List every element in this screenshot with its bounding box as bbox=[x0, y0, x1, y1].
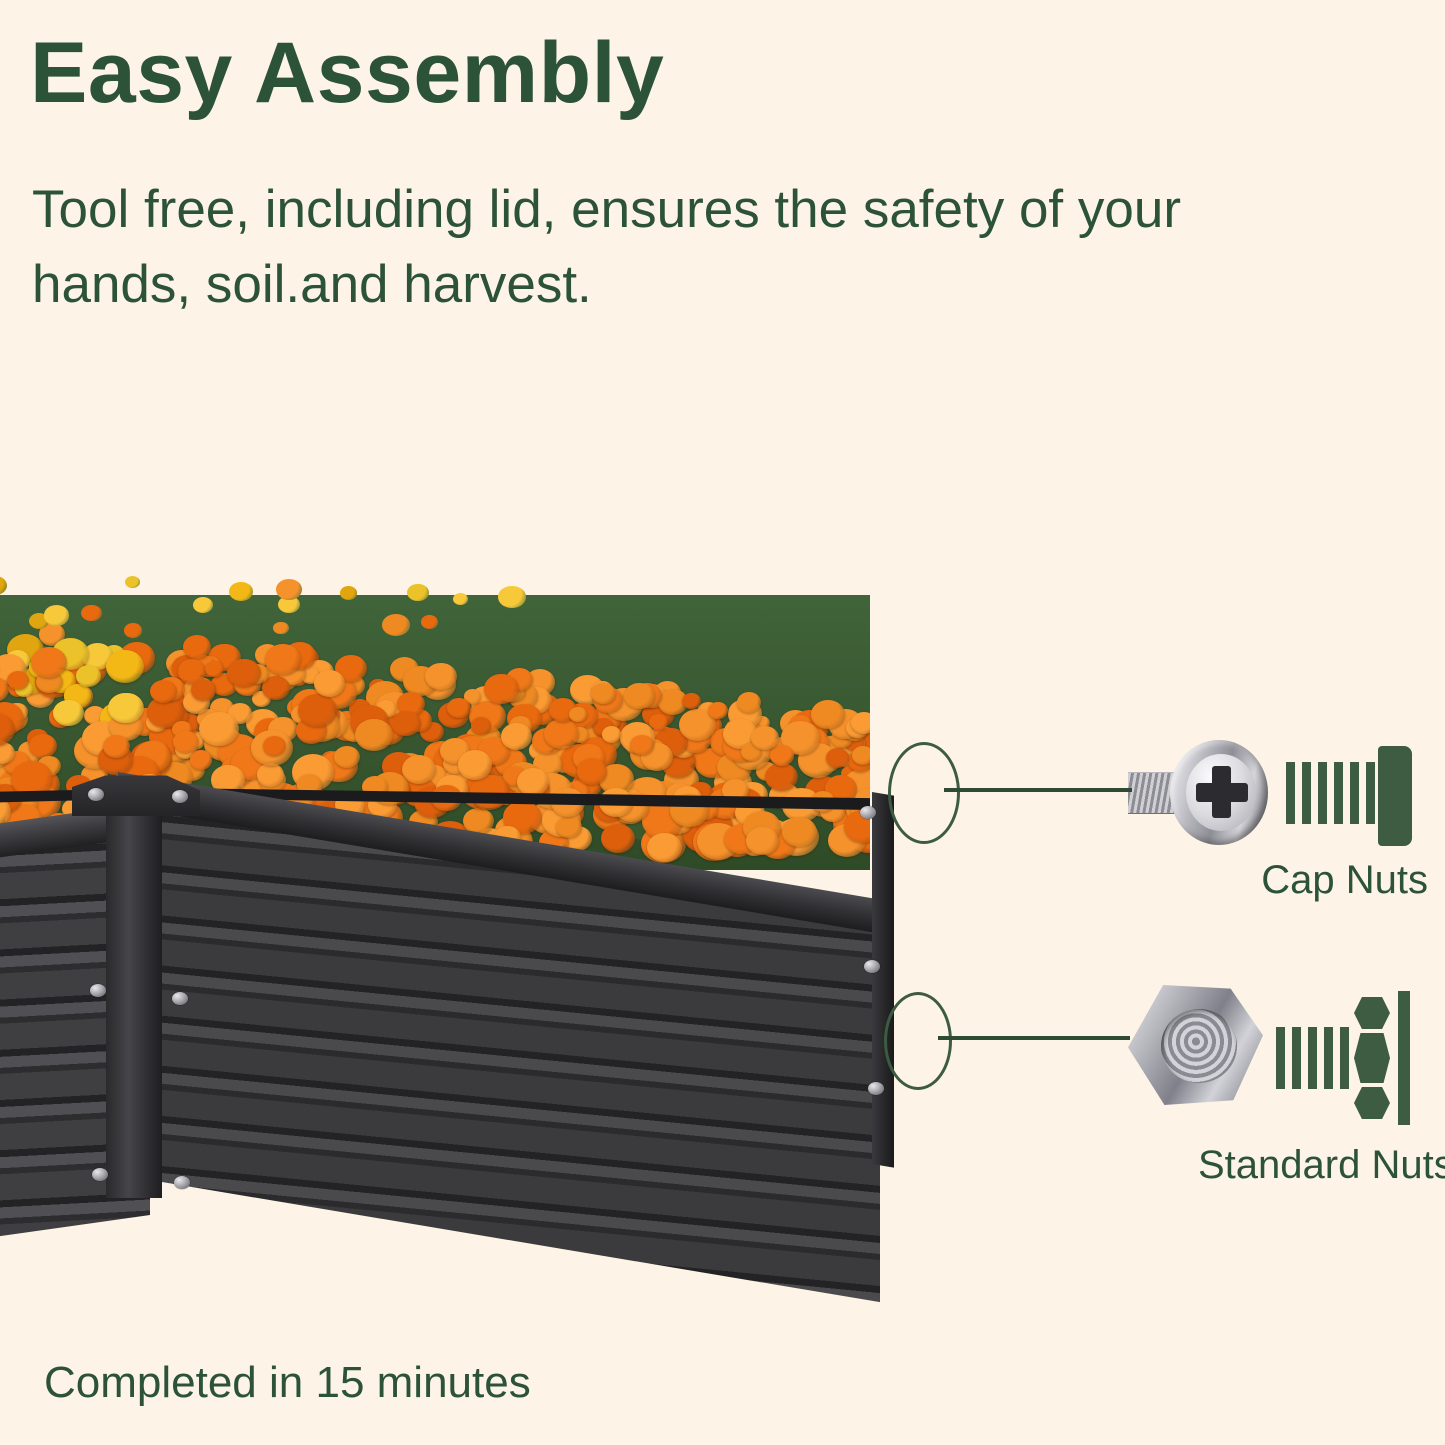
marigold-bud bbox=[124, 623, 143, 638]
marigold-bloom bbox=[770, 745, 794, 765]
marigold-bloom bbox=[624, 683, 655, 710]
marigold-bloom bbox=[106, 650, 144, 683]
hex-nut-icon bbox=[1128, 985, 1263, 1105]
standard-nuts-callout: Standard Nuts bbox=[1128, 985, 1428, 1185]
page-subtitle: Tool free, including lid, ensures the sa… bbox=[32, 172, 1322, 323]
panel-screw bbox=[868, 1082, 884, 1095]
marigold-bloom bbox=[191, 679, 216, 701]
marigold-bloom bbox=[484, 674, 518, 704]
marigold-bloom bbox=[314, 670, 345, 697]
cap-nut-schematic-icon bbox=[1286, 746, 1426, 846]
hex-nut-thread-hole bbox=[1161, 1009, 1237, 1083]
marigold-bloom bbox=[199, 712, 239, 747]
marigold-bud bbox=[44, 605, 70, 625]
marigold-bloom bbox=[811, 700, 845, 729]
marigold-bloom bbox=[447, 698, 470, 718]
hex-middle bbox=[1354, 1033, 1390, 1083]
marigold-bloom bbox=[826, 748, 849, 768]
hex-top bbox=[1354, 997, 1390, 1029]
marigold-bloom bbox=[108, 693, 144, 724]
marigold-bloom bbox=[53, 700, 84, 726]
marigold-bloom bbox=[190, 750, 212, 769]
marigold-bloom bbox=[851, 712, 870, 734]
marigold-bloom bbox=[471, 717, 491, 734]
marigold-bloom bbox=[601, 824, 635, 853]
cap-block bbox=[1378, 746, 1412, 846]
marigold-bud bbox=[453, 593, 468, 605]
marigold-bloom bbox=[517, 768, 550, 796]
marigold-bloom bbox=[29, 734, 57, 758]
page-title: Easy Assembly bbox=[30, 28, 664, 118]
marigold-bloom bbox=[544, 719, 579, 749]
raised-garden-bed-illustration bbox=[0, 540, 970, 1280]
marigold-bud bbox=[498, 586, 525, 608]
post-screw bbox=[90, 984, 106, 997]
bracket-screw bbox=[172, 790, 188, 803]
marigold-bud bbox=[276, 579, 302, 600]
marigold-bloom bbox=[7, 671, 29, 690]
marigold-bud bbox=[193, 597, 213, 613]
callout-ring-cap-nuts bbox=[888, 742, 960, 844]
cap-nuts-label: Cap Nuts bbox=[1238, 858, 1428, 903]
marigold-bloom bbox=[852, 746, 870, 765]
callout-ring-standard-nuts bbox=[884, 992, 952, 1090]
marigold-bud bbox=[0, 576, 7, 595]
marigold-bloom bbox=[458, 750, 492, 780]
marigold-bloom bbox=[765, 763, 798, 791]
marigold-bloom bbox=[569, 707, 587, 722]
right-corner-edge bbox=[872, 792, 894, 1168]
marigold-bloom bbox=[76, 665, 101, 687]
product-feature-image: Easy Assembly Tool free, including lid, … bbox=[0, 0, 1445, 1445]
marigold-bloom bbox=[334, 746, 360, 768]
panel-screw bbox=[860, 806, 876, 819]
marigold-bloom bbox=[205, 661, 224, 677]
phillips-slot-horizontal bbox=[1196, 783, 1248, 802]
bracket-screw bbox=[88, 788, 104, 801]
marigold-bud bbox=[81, 605, 101, 621]
marigold-bud bbox=[273, 622, 288, 634]
post-screw bbox=[174, 1176, 190, 1189]
post-screw bbox=[172, 992, 188, 1005]
marigold-bloom bbox=[630, 735, 654, 755]
marigold-bloom bbox=[265, 644, 301, 675]
front-corner-post bbox=[106, 778, 162, 1198]
marigold-bud bbox=[421, 615, 438, 629]
marigold-bud bbox=[340, 586, 357, 600]
marigold-bloom bbox=[577, 758, 607, 784]
hex-bottom bbox=[1354, 1087, 1390, 1119]
cap-nuts-callout: Cap Nuts bbox=[1128, 740, 1428, 920]
marigold-bloom bbox=[355, 719, 392, 751]
marigold-bloom bbox=[647, 833, 681, 863]
marigold-bud bbox=[407, 584, 428, 601]
callout-line-standard-nuts bbox=[938, 1036, 1130, 1040]
post-screw bbox=[92, 1168, 108, 1181]
mounting-plate bbox=[1398, 991, 1410, 1125]
panel-screw bbox=[864, 960, 880, 973]
marigold-bloom bbox=[556, 816, 582, 838]
callout-line-cap-nuts bbox=[944, 788, 1132, 792]
marigold-bud bbox=[125, 576, 140, 588]
standard-nuts-label: Standard Nuts bbox=[1198, 1143, 1428, 1188]
marigold-bloom bbox=[227, 659, 261, 688]
standard-nut-schematic-icon bbox=[1276, 989, 1426, 1129]
screw-phillips-icon bbox=[1128, 740, 1268, 845]
marigold-bloom bbox=[649, 714, 667, 730]
marigold-bloom bbox=[183, 635, 211, 659]
marigold-bloom bbox=[602, 726, 622, 743]
marigold-bloom bbox=[103, 735, 130, 758]
completion-time-note: Completed in 15 minutes bbox=[44, 1358, 531, 1408]
